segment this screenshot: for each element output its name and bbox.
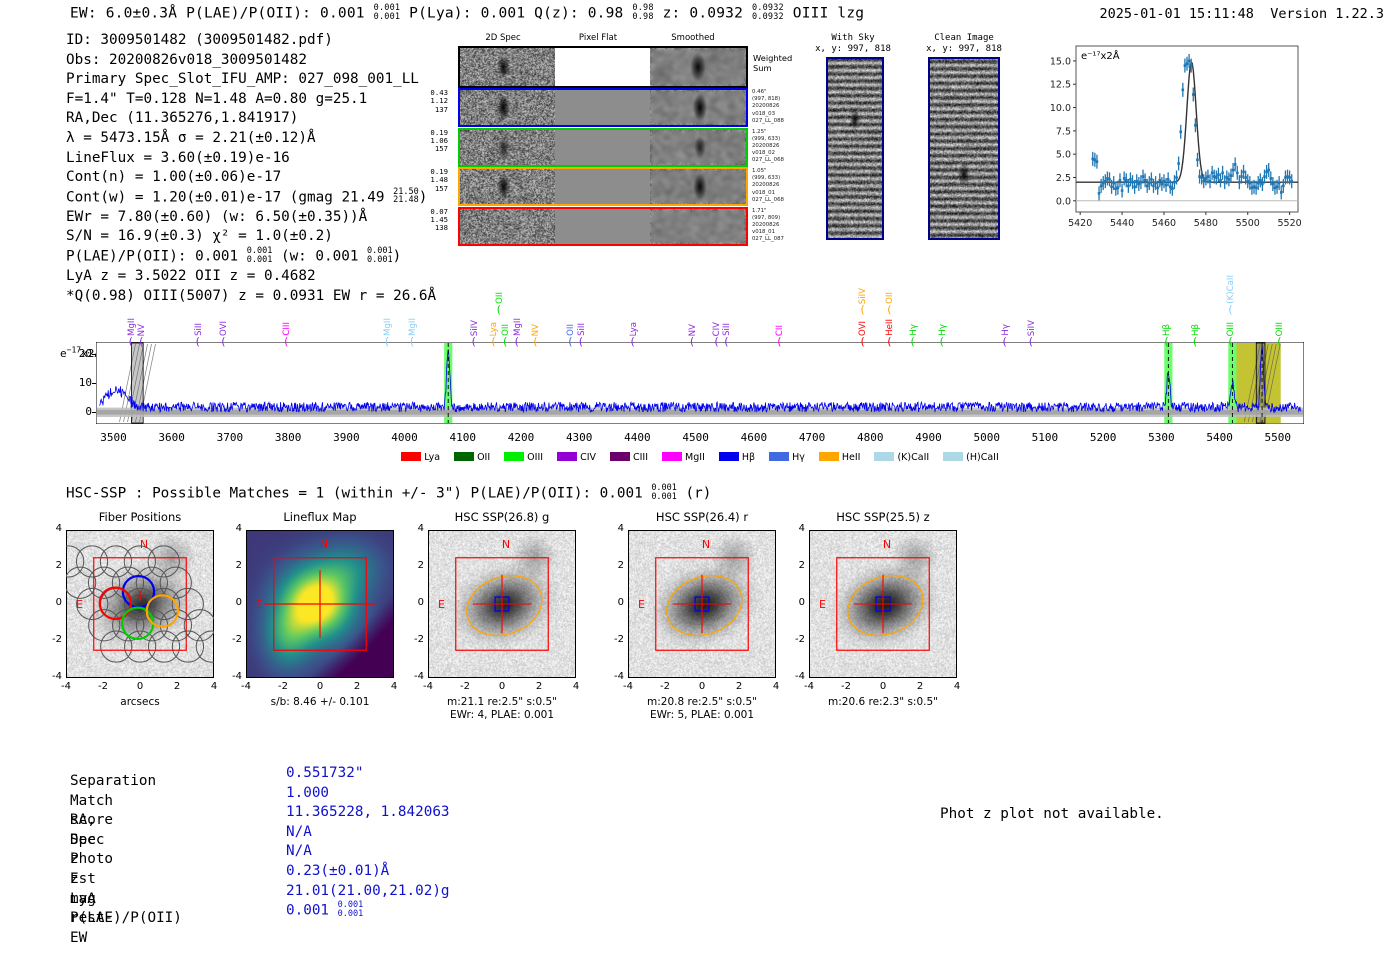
montage-header-smoothed: Smoothed: [648, 33, 738, 43]
fiber-right-labels: 0.46"(997, 818)20200826v018_03027_LL_088: [752, 89, 800, 125]
info-line-id: ID: 3009501482 (3009501482.pdf): [66, 31, 436, 51]
svg-text:5500: 5500: [1236, 218, 1260, 229]
info-line-ewr: EWr = 7.80(±0.60) (w: 6.50(±0.35))Å: [66, 208, 436, 228]
header-plya-qz: P(Lya): 0.001 Q(z): 0.98: [409, 5, 632, 21]
emission-line-label: SiIV: [859, 288, 868, 304]
info-line-sn-chi2: S/N = 16.9(±0.3) χ² = 1.0(±0.2): [66, 227, 436, 247]
cutout-x-tick: -2: [837, 681, 855, 692]
cutout-x-tick: -2: [456, 681, 474, 692]
fiber-2dspec: [460, 90, 555, 125]
emission-line-label: OIII: [1227, 322, 1236, 336]
legend-label: Hβ: [742, 452, 755, 463]
fiber-2dspec: [460, 130, 555, 165]
cutout-row: Fiber PositionsNE-4-4-2-2002244arcsecsLi…: [0, 530, 1400, 750]
with-sky-title: With Sky x, y: 997, 818: [812, 33, 894, 55]
weighted-sum-pixelflat: [555, 48, 650, 86]
legend-item: CIV: [557, 452, 596, 463]
timestamp: 2025-01-01 15:11:48: [1100, 6, 1254, 22]
fiber-left-labels: 0.431.12137: [418, 89, 448, 114]
hsc-title-tail: (r): [677, 485, 711, 501]
legend-swatch: [874, 452, 894, 461]
svg-text:12.5: 12.5: [1050, 80, 1071, 91]
legend-swatch: [401, 452, 421, 461]
spectrum-line-labels: MgII(NV(SiII(OVI(CIII(MgII(MgII(SiIV(Lya…: [96, 268, 1304, 344]
cutout-x-tick: -2: [94, 681, 112, 692]
cutout-x-tick: 0: [311, 681, 329, 692]
emission-line-label: OIII: [1276, 322, 1285, 336]
match-detail-key: P(LAE)/P(OII): [70, 909, 182, 929]
hsc-plae-fraction: 0.0010.001: [651, 484, 677, 501]
emission-line-label: SiIV: [471, 320, 480, 336]
with-sky-label: With Sky: [812, 33, 894, 44]
spectrum-x-tick: 4600: [741, 431, 768, 444]
cutout-caption-1: m:20.6 re:2.3" s:0.5": [809, 696, 957, 709]
legend-item: OIII: [504, 452, 543, 463]
fiber-pixelflat: [555, 90, 650, 125]
cutout-x-tick: -4: [237, 681, 255, 692]
spectrum-x-tick: 3800: [275, 431, 302, 444]
info-line-primary-spec: Primary Spec_Slot_IFU_AMP: 027_098_001_L…: [66, 70, 436, 90]
fiber-smoothed: [650, 90, 746, 125]
cutout-x-tick: -4: [800, 681, 818, 692]
cutout-x-tick: 2: [911, 681, 929, 692]
info-line-cont-w: Cont(w) = 1.20(±0.01)e-17 (gmag 21.49 21…: [66, 188, 436, 208]
cutout-x-tick: 2: [730, 681, 748, 692]
legend-item: Lya: [401, 452, 440, 463]
legend-label: CIII: [633, 452, 648, 463]
legend-label: (K)CaII: [897, 452, 929, 463]
svg-text:7.5: 7.5: [1056, 126, 1071, 137]
legend-swatch: [943, 452, 963, 461]
match-detail-value: 0.001 0.0010.001: [286, 901, 363, 921]
clean-image-label: Clean Image: [918, 33, 1010, 44]
cutout-overlay: NE: [809, 530, 957, 678]
info-line-cont-n: Cont(n) = 1.00(±0.06)e-17: [66, 168, 436, 188]
cutout-x-tick: 2: [348, 681, 366, 692]
legend-label: CIV: [580, 452, 596, 463]
cutout-x-tick: 2: [530, 681, 548, 692]
info-line-plae: P(LAE)/P(OII): 0.001 0.0010.001 (w: 0.00…: [66, 247, 436, 267]
with-sky-image: [826, 57, 884, 240]
svg-text:E: E: [438, 598, 445, 611]
spectrum-y-tick: 20: [72, 347, 92, 360]
fiber-smoothed: [650, 209, 746, 244]
emission-line-bracket: (: [497, 305, 501, 314]
match-detail-value: N/A: [286, 842, 312, 862]
legend-label: HeII: [842, 452, 861, 463]
spectrum-x-tick: 4000: [391, 431, 418, 444]
info-line-lineflux: LineFlux = 3.60(±0.19)e-16: [66, 149, 436, 169]
cutout-x-tick: 2: [168, 681, 186, 692]
cutout-y-tick: 2: [224, 560, 242, 571]
cutout-y-tick: 2: [787, 560, 805, 571]
cutout-y-tick: 0: [606, 597, 624, 608]
source-info-block: ID: 3009501482 (3009501482.pdf) Obs: 202…: [66, 31, 436, 306]
header-z-tail: OIII lzg: [793, 5, 864, 21]
weighted-sum-2dspec: [460, 48, 555, 86]
cutout-title: Lineflux Map: [246, 510, 394, 524]
fiber-left-labels: 0.191.48157: [418, 168, 448, 193]
legend-item: Hγ: [769, 452, 805, 463]
cutout-x-tick: 0: [874, 681, 892, 692]
cutout-y-tick: 4: [406, 523, 424, 534]
legend-label: OIII: [527, 452, 543, 463]
cutout-x-tick: -4: [57, 681, 75, 692]
fiber-row: [458, 207, 748, 246]
svg-text:N: N: [140, 538, 148, 551]
spectrum-y-tick: 10: [72, 376, 92, 389]
legend-item: Hβ: [719, 452, 755, 463]
legend-item: (K)CaII: [874, 452, 929, 463]
emission-line-label: MgII: [514, 318, 523, 336]
header-z: z: 0.0932: [663, 5, 752, 21]
emission-line-label: MgII: [384, 318, 393, 336]
spectrum-x-tick: 3500: [100, 431, 127, 444]
spectrum-y-tick: 0: [72, 405, 92, 418]
emission-line-label: CIV: [713, 322, 722, 336]
timestamp-version: 2025-01-01 15:11:48 Version 1.22.3: [1100, 6, 1385, 22]
weighted-sum-row: [458, 46, 748, 88]
cutout-caption-2: EWr: 5, PLAE: 0.001: [628, 709, 776, 722]
spectrum-x-tick: 4800: [857, 431, 884, 444]
fiber-row: [458, 128, 748, 167]
with-sky-xy: x, y: 997, 818: [812, 44, 894, 55]
svg-text:5460: 5460: [1152, 218, 1176, 229]
svg-text:10.0: 10.0: [1050, 103, 1071, 114]
svg-text:5480: 5480: [1194, 218, 1218, 229]
fiber-smoothed: [650, 130, 746, 165]
emission-line-zoom-svg: 0.02.55.07.510.012.515.05420544054605480…: [1036, 38, 1304, 238]
cutout-y-tick: -2: [406, 634, 424, 645]
cutout-x-tick: -2: [274, 681, 292, 692]
header-ew-plae: EW: 6.0±0.3Å P(LAE)/P(OII): 0.001: [70, 5, 374, 21]
cutout-caption-1: m:20.8 re:2.5" s:0.5": [628, 696, 776, 709]
cutout-panel: Fiber PositionsNE-4-4-2-2002244arcsecs: [66, 530, 214, 738]
cutout-x-tick: 4: [205, 681, 223, 692]
spectrum-x-tick: 4300: [566, 431, 593, 444]
cutout-y-tick: 0: [224, 597, 242, 608]
legend-swatch: [610, 452, 630, 461]
emission-line-label: OVI: [859, 321, 868, 336]
cutout-overlay: NE: [66, 530, 214, 678]
spectrum-x-tick: 5200: [1090, 431, 1117, 444]
cutout-overlay: NE: [628, 530, 776, 678]
cutout-y-tick: 0: [787, 597, 805, 608]
montage-header-2dspec: 2D Spec: [458, 33, 548, 43]
svg-text:N: N: [883, 538, 891, 551]
cutout-title: Fiber Positions: [66, 510, 214, 524]
legend-item: HeII: [819, 452, 861, 463]
cutout-y-tick: 0: [406, 597, 424, 608]
clean-image-title: Clean Image x, y: 997, 818: [918, 33, 1010, 55]
cutout-y-tick: 4: [606, 523, 624, 534]
emission-line-label: SiIV: [1028, 320, 1037, 336]
gmag-fraction: 21.5021.48: [393, 188, 419, 205]
cutout-y-tick: 2: [406, 560, 424, 571]
spectrum-x-tick: 4500: [682, 431, 709, 444]
fiber-pixelflat: [555, 130, 650, 165]
cutout-y-tick: 4: [224, 523, 242, 534]
fiber-pixelflat: [555, 169, 650, 204]
weighted-sum-label: Weighted Sum: [753, 53, 792, 73]
cutout-caption-2: EWr: 4, PLAE: 0.001: [428, 709, 576, 722]
fiber-right-labels: 1.25"(999, 633)20200826v018_02027_LL_068: [752, 129, 800, 165]
photz-note: Phot z plot not available.: [940, 806, 1164, 822]
match-detail-value: 0.23(±0.01)Å: [286, 862, 389, 882]
cutout-y-tick: 2: [44, 560, 62, 571]
legend-label: OII: [477, 452, 490, 463]
emission-line-label: HeII: [886, 319, 895, 336]
svg-text:N: N: [502, 538, 510, 551]
svg-text:5440: 5440: [1110, 218, 1134, 229]
spectrum-x-tick: 5000: [973, 431, 1000, 444]
legend-item: MgII: [662, 452, 705, 463]
cutout-x-tick: -4: [419, 681, 437, 692]
clean-image-cutout: [928, 57, 1000, 240]
legend-item: OII: [454, 452, 490, 463]
fiber-2dspec: [460, 169, 555, 204]
info-line-lambda-sigma: λ = 5473.15Å σ = 2.21(±0.12)Å: [66, 129, 436, 149]
spectrum-y-tickmark: [92, 354, 96, 355]
match-detail-value: 0.551732": [286, 764, 363, 784]
spectrum-x-axis: 3500360037003800390040004100420043004400…: [96, 427, 1304, 445]
cutout-x-tick: 0: [693, 681, 711, 692]
legend-swatch: [504, 452, 524, 461]
weighted-sum-smoothed: [650, 48, 746, 86]
cutout-x-tick: -2: [656, 681, 674, 692]
info-line-obs: Obs: 20200826v018_3009501482: [66, 51, 436, 71]
fiber-left-labels: 0.071.45138: [418, 208, 448, 233]
z-fraction: 0.09320.0932: [752, 4, 784, 21]
cutout-y-tick: 4: [787, 523, 805, 534]
cutout-title: HSC SSP(26.4) r: [628, 510, 776, 524]
montage-header-pixelflat: Pixel Flat: [553, 33, 643, 43]
emission-line-label: Lya: [490, 322, 499, 336]
spectrum-x-tick: 3900: [333, 431, 360, 444]
cutout-y-tick: -2: [787, 634, 805, 645]
spectrum-x-tick: 4700: [799, 431, 826, 444]
cutout-y-tick: -2: [606, 634, 624, 645]
legend-swatch: [719, 452, 739, 461]
cutout-x-label: arcsecs: [66, 696, 214, 709]
cutout-x-tick: 4: [567, 681, 585, 692]
svg-text:E: E: [819, 598, 826, 611]
svg-text:N: N: [702, 538, 710, 551]
spectrum-x-tick: 3600: [158, 431, 185, 444]
cutout-x-tick: -4: [619, 681, 637, 692]
match-detail-key: mag: [70, 890, 96, 910]
cutout-caption-1: m:21.1 re:2.5" s:0.5": [428, 696, 576, 709]
spectrum-x-tick: 4200: [508, 431, 535, 444]
match-detail-value: 1.000: [286, 784, 329, 804]
legend-swatch: [819, 452, 839, 461]
emission-line-zoom-plot: 0.02.55.07.510.012.515.05420544054605480…: [1036, 38, 1304, 218]
info-line-radec: RA,Dec (11.365276,1.841917): [66, 109, 436, 129]
legend-label: MgII: [685, 452, 705, 463]
hsc-ssp-title: HSC-SSP : Possible Matches = 1 (within +…: [66, 484, 711, 501]
svg-text:5.0: 5.0: [1056, 150, 1071, 161]
spectrum-x-tick: 5100: [1032, 431, 1059, 444]
spectrum-y-axis: 01020: [96, 342, 1304, 424]
svg-text:N: N: [320, 538, 328, 551]
cutout-y-tick: 0: [44, 597, 62, 608]
info-line-fwhm: F=1.4" T=0.128 N=1.48 A=0.80 g=25.1: [66, 90, 436, 110]
fiber-pixelflat: [555, 209, 650, 244]
qz-fraction: 0.980.98: [632, 4, 653, 21]
fiber-row: [458, 88, 748, 127]
header-summary: EW: 6.0±0.3Å P(LAE)/P(OII): 0.001 0.0010…: [70, 4, 864, 21]
svg-text:15.0: 15.0: [1050, 56, 1071, 67]
legend-label: Lya: [424, 452, 440, 463]
svg-text:5520: 5520: [1278, 218, 1302, 229]
emission-line-bracket: (: [887, 305, 891, 314]
spectrum-x-tick: 5300: [1148, 431, 1175, 444]
svg-text:E: E: [256, 598, 263, 611]
fiber-2dspec: [460, 209, 555, 244]
spectrum-x-tick: 3700: [217, 431, 244, 444]
cutout-y-tick: 4: [44, 523, 62, 534]
match-detail-value: 11.365228, 1.842063: [286, 803, 450, 823]
emission-line-label: OVI: [220, 321, 229, 336]
info-plae-fraction: 0.0010.001: [247, 247, 273, 264]
cutout-y-tick: -2: [44, 634, 62, 645]
cutout-caption-1: s/b: 8.46 +/- 0.101: [246, 696, 394, 709]
cutout-x-tick: 0: [131, 681, 149, 692]
spectrum-x-tick: 4400: [624, 431, 651, 444]
cutout-panel: HSC SSP(26.4) rNE-4-4-2-2002244m:20.8 re…: [628, 530, 776, 738]
plae-fraction: 0.0010.001: [374, 4, 401, 21]
hsc-title-text: HSC-SSP : Possible Matches = 1 (within +…: [66, 485, 651, 501]
spectrum-x-tick: 5400: [1206, 431, 1233, 444]
fiber-smoothed: [650, 169, 746, 204]
fiber-row: [458, 167, 748, 206]
svg-text:2.5: 2.5: [1056, 173, 1071, 184]
fiber-left-labels: 0.191.06157: [418, 129, 448, 154]
clean-image-xy: x, y: 997, 818: [918, 44, 1010, 55]
spectrum-x-tick: 5500: [1265, 431, 1292, 444]
spectrum-legend: LyaOIIOIIICIVCIIIMgIIHβHγHeII(K)CaII(H)C…: [0, 452, 1400, 463]
emission-line-label: CIII: [283, 322, 292, 336]
cutout-x-tick: 4: [767, 681, 785, 692]
cutout-x-tick: 0: [493, 681, 511, 692]
legend-item: (H)CaII: [943, 452, 999, 463]
spectrum-y-tickmark: [92, 383, 96, 384]
svg-text:0.0: 0.0: [1056, 196, 1071, 207]
cutout-y-tick: -2: [224, 634, 242, 645]
emission-line-label: MgII: [128, 318, 137, 336]
legend-swatch: [454, 452, 474, 461]
cutout-y-tick: 2: [606, 560, 624, 571]
cutout-panel: HSC SSP(25.5) zNE-4-4-2-2002244m:20.6 re…: [809, 530, 957, 738]
legend-item: CIII: [610, 452, 648, 463]
spectrum-x-tick: 4900: [915, 431, 942, 444]
emission-line-label: (K)CaII: [1227, 275, 1236, 304]
match-plae-fraction: 0.0010.001: [338, 901, 364, 918]
cutout-panel: Lineflux MapNE-4-4-2-2002244s/b: 8.46 +/…: [246, 530, 394, 738]
legend-swatch: [662, 452, 682, 461]
legend-swatch: [769, 452, 789, 461]
spectrum-x-tick: 4100: [450, 431, 477, 444]
spectrum-y-tickmark: [92, 412, 96, 413]
fiber-right-labels: 1.05"(999, 633)20200826v018_01027_LL_068: [752, 168, 800, 204]
cutout-overlay: NE: [428, 530, 576, 678]
emission-line-label: Lya: [630, 322, 639, 336]
legend-swatch: [557, 452, 577, 461]
fiber-right-labels: 1.71"(997, 809)20200826v018_01027_LL_087: [752, 208, 800, 244]
match-detail-value: N/A: [286, 823, 312, 843]
match-detail-key: Separation: [70, 772, 156, 792]
version-label: Version 1.22.3: [1270, 6, 1384, 22]
legend-label: Hγ: [792, 452, 805, 463]
cutout-x-tick: 4: [948, 681, 966, 692]
legend-label: (H)CaII: [966, 452, 999, 463]
cutout-x-tick: 4: [385, 681, 403, 692]
fiber-rows-container: 0.431.121370.46"(997, 818)20200826v018_0…: [420, 88, 790, 258]
cutout-overlay: NE: [246, 530, 394, 678]
svg-text:e⁻¹⁷x2Å: e⁻¹⁷x2Å: [1081, 49, 1120, 62]
match-detail-value: 21.01(21.00,21.02)g: [286, 882, 450, 902]
cutout-panel: HSC SSP(26.8) gNE-4-4-2-2002244m:21.1 re…: [428, 530, 576, 738]
emission-line-label: MgII: [409, 318, 418, 336]
info-plae-w-fraction: 0.0010.001: [367, 247, 393, 264]
cutout-title: HSC SSP(26.8) g: [428, 510, 576, 524]
emission-line-bracket: (: [1228, 305, 1232, 314]
svg-text:E: E: [638, 598, 645, 611]
emission-line-bracket: (: [860, 305, 864, 314]
cutout-title: HSC SSP(25.5) z: [809, 510, 957, 524]
svg-text:5420: 5420: [1068, 218, 1092, 229]
